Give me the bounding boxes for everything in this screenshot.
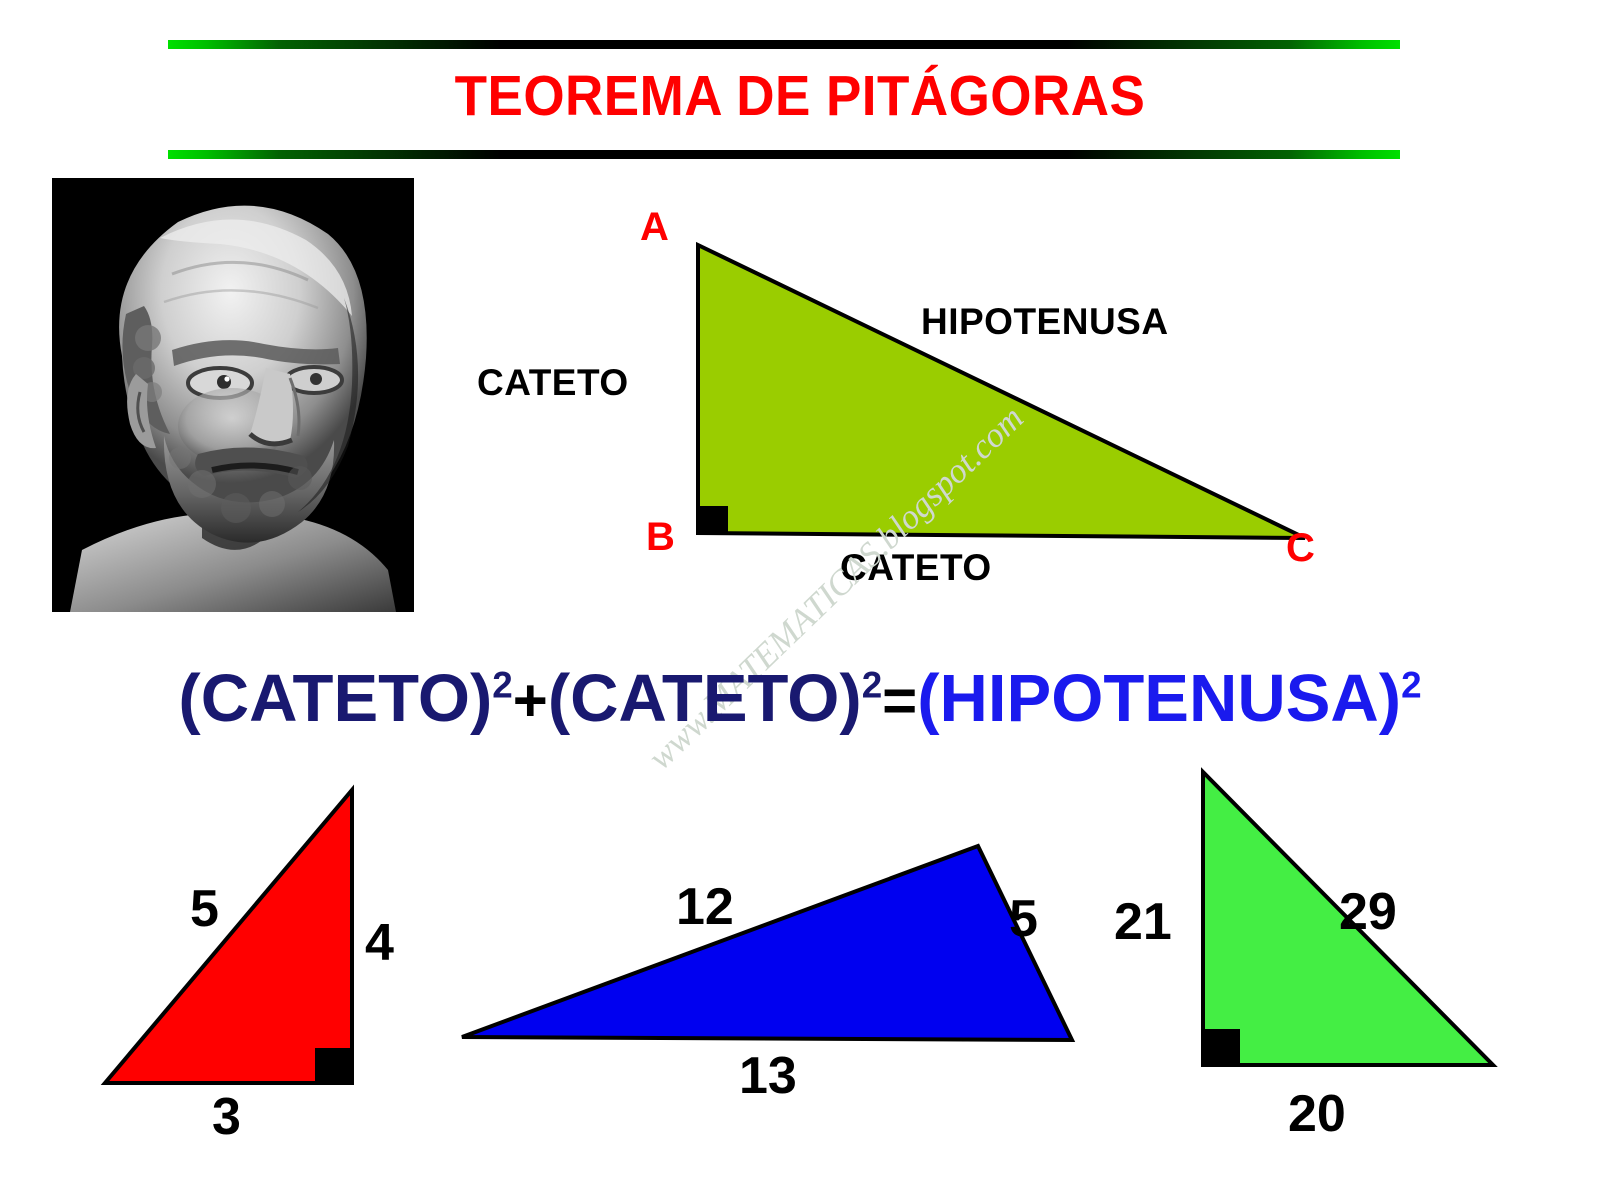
formula-close-paren-3: ) <box>1379 661 1401 736</box>
formula-close-paren-2: ) <box>839 661 861 736</box>
blue-label-base: 13 <box>739 1049 797 1103</box>
formula-plus-operator: + <box>513 667 548 734</box>
red-label-leg-vertical: 4 <box>365 916 394 970</box>
formula-open-paren-3: ( <box>917 661 939 736</box>
formula-exponent-2: 2 <box>862 665 882 706</box>
pythagoras-portrait <box>52 178 414 612</box>
formula-equals-operator: = <box>882 667 917 734</box>
label-cateto-left: CATETO <box>477 363 629 403</box>
vertex-label-b: B <box>646 517 675 557</box>
red-label-leg-bottom: 3 <box>212 1090 241 1144</box>
green-label-hypotenuse: 29 <box>1339 885 1397 939</box>
page-title: TEOREMA DE PITÁGORAS <box>56 63 1544 129</box>
formula-exponent-3: 2 <box>1401 665 1421 706</box>
blue-label-leg-right: 5 <box>1009 892 1038 946</box>
right-angle-marker <box>700 506 728 533</box>
green-label-leg-bottom: 20 <box>1288 1087 1346 1141</box>
main-triangle-shape <box>698 245 1305 538</box>
pythagorean-formula: (CATETO)2+(CATETO)2=(HIPOTENUSA)2 <box>0 660 1600 740</box>
divider-bottom <box>168 150 1400 159</box>
formula-open-paren-2: ( <box>548 661 570 736</box>
example-triangle-blue <box>440 830 1100 1060</box>
formula-close-paren-1: ) <box>470 661 492 736</box>
red-label-hypotenuse: 5 <box>190 882 219 936</box>
formula-term-cateto-2: CATETO <box>570 661 839 736</box>
red-triangle-shape <box>105 790 352 1083</box>
blue-triangle-shape <box>462 846 1072 1040</box>
vertex-label-c: C <box>1286 528 1315 568</box>
label-hipotenusa: HIPOTENUSA <box>921 302 1169 342</box>
green-right-angle-marker <box>1203 1029 1240 1065</box>
blue-label-leg-upper: 12 <box>676 880 734 934</box>
green-label-leg-vertical: 21 <box>1114 895 1172 949</box>
label-cateto-bottom: CATETO <box>840 548 992 588</box>
formula-term-hipotenusa: HIPOTENUSA <box>940 661 1379 736</box>
divider-top <box>168 40 1400 49</box>
formula-exponent-1: 2 <box>492 665 512 706</box>
formula-open-paren-1: ( <box>178 661 200 736</box>
slide-canvas: TEOREMA DE PITÁGORAS <box>0 0 1600 1197</box>
formula-term-cateto-1: CATETO <box>201 661 470 736</box>
red-right-angle-marker <box>315 1048 352 1083</box>
vertex-label-a: A <box>640 207 669 247</box>
